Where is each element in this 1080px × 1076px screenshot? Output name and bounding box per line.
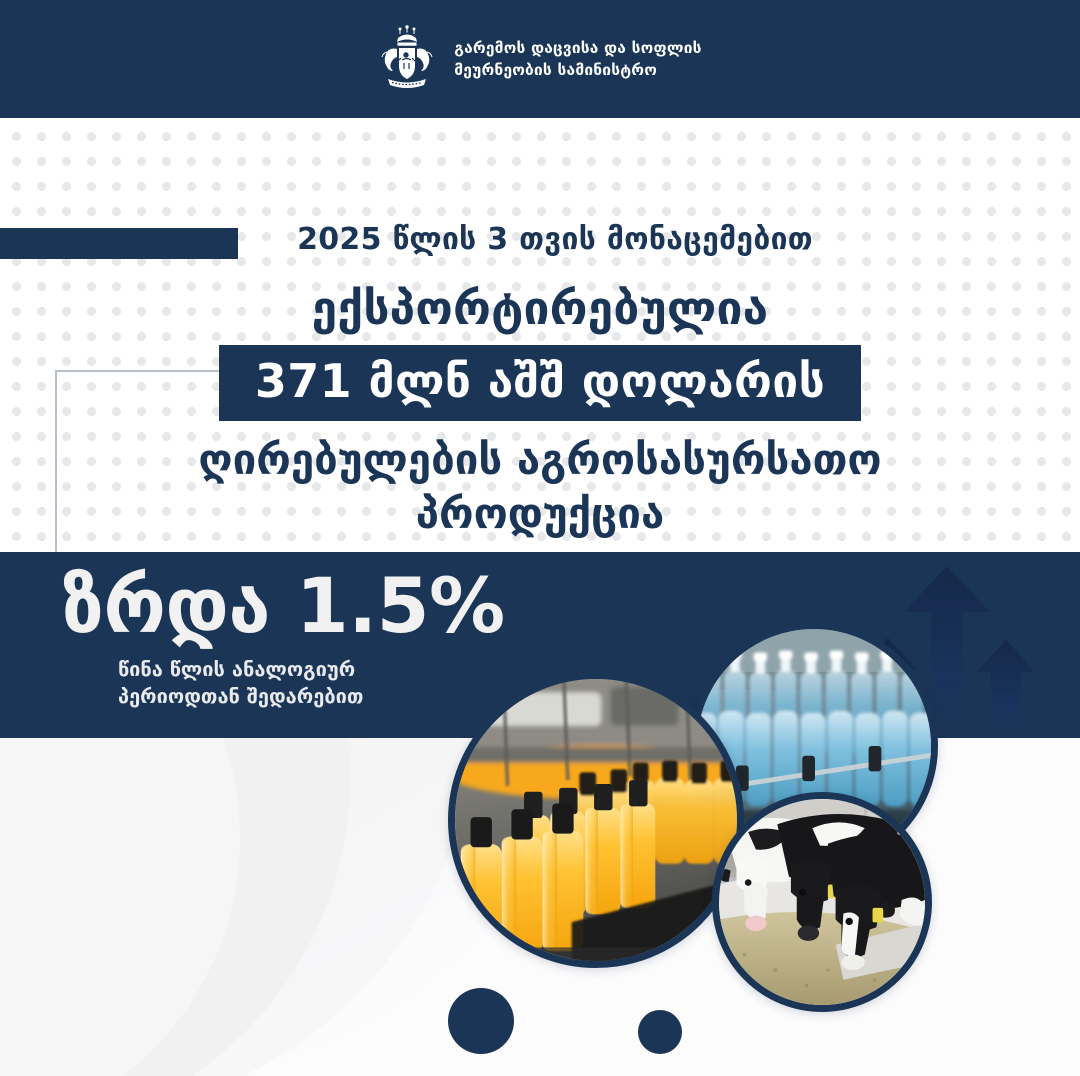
- comparison-note-label: წინა წლის ანალოგიურ პერიოდთან შედარებით: [118, 656, 505, 710]
- highlight-wrapper: 371 მლნ აშშ დოლარის: [0, 345, 1080, 421]
- infographic-poster: გარემოს დაცვისა და სოფლის მეურნეობის სამ…: [0, 0, 1080, 1076]
- highlight-value-label: 371 მლნ აშშ დოლარის: [219, 345, 861, 421]
- ministry-name-label: გარემოს დაცვისა და სოფლის მეურნეობის სამ…: [454, 37, 701, 82]
- georgia-coat-of-arms-icon: [378, 23, 436, 95]
- kicker-label: 2025 წლის 3 თვის მონაცემებით: [30, 222, 1080, 257]
- photo-juice-bottling-line: [448, 672, 744, 968]
- headline-line-2: ღირებულების აგროსასურსათო პროდუქცია: [0, 433, 1080, 541]
- decorative-dot-large: [448, 988, 514, 1054]
- decorative-dot-small: [638, 1010, 682, 1054]
- growth-value-label: ზრდა 1.5%: [62, 568, 505, 644]
- title-block: 2025 წლის 3 თვის მონაცემებით ექსპორტირებ…: [0, 222, 1080, 541]
- stat-text-group: ზრდა 1.5% წინა წლის ანალოგიურ პერიოდთან …: [62, 568, 505, 710]
- header-bar: გარემოს დაცვისა და სოფლის მეურნეობის სამ…: [0, 0, 1080, 118]
- photo-dairy-cows-feeding: [712, 792, 932, 1012]
- headline-line-1: ექსპორტირებულია: [0, 281, 1080, 335]
